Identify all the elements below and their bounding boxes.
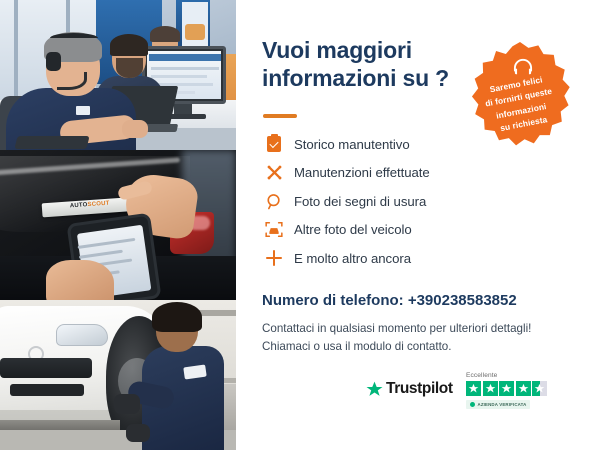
star-2: [483, 381, 498, 396]
trustpilot-rating-label: Eccellente: [466, 372, 497, 379]
magnifier-icon: [262, 191, 286, 211]
photo-column: AUTOSCOUT: [0, 0, 236, 450]
trustpilot-logo: Trustpilot: [366, 380, 453, 398]
star-1: [466, 381, 481, 396]
contact-instructions: Contattaci in qualsiasi momento per ulte…: [262, 320, 572, 356]
feature-item-storico-manutentivo: Storico manutentivo: [262, 130, 512, 159]
feature-label: E molto altro ancora: [294, 251, 411, 266]
contact-line-1: Contattaci in qualsiasi momento per ulte…: [262, 320, 572, 338]
verified-company-badge: AZIENDA VERIFICATA: [466, 400, 530, 409]
phone-number[interactable]: Numero di telefono: +390238583852: [262, 292, 582, 309]
feature-list: Storico manutentivo Manutenzi: [262, 130, 512, 273]
trustpilot-stars: [466, 381, 547, 396]
feature-label: Storico manutentivo: [294, 137, 410, 152]
trustpilot-star-icon: [366, 381, 383, 398]
headset-icon: [512, 58, 534, 76]
clipboard-check-icon: [262, 134, 286, 154]
crossed-wrenches-icon: [262, 163, 286, 183]
trustpilot-name: Trustpilot: [386, 380, 453, 398]
star-3: [499, 381, 514, 396]
verified-check-icon: [470, 402, 475, 407]
trustpilot-widget[interactable]: Trustpilot Eccellente AZIENDA VERIFICATA: [366, 372, 578, 416]
feature-label: Manutenzioni effettuate: [294, 165, 430, 180]
feature-item-altre-foto-veicolo: Altre foto del veicolo: [262, 216, 512, 245]
car-damage-inspection-photo: AUTOSCOUT: [0, 150, 236, 300]
feature-label: Foto dei segni di usura: [294, 194, 426, 209]
verified-label: AZIENDA VERIFICATA: [478, 402, 527, 407]
feature-item-molto-altro: E molto altro ancora: [262, 244, 512, 273]
feature-item-manutenzioni-effettuate: Manutenzioni effettuate: [262, 159, 512, 188]
car-focus-frame-icon: [262, 220, 286, 240]
call-center-agents-photo: [0, 0, 236, 150]
star-5-half: [532, 381, 547, 396]
title-divider: [263, 114, 297, 118]
mechanic-wheel-inspection-photo: [0, 300, 236, 450]
contact-line-2: Chiamaci o usa il modulo di contatto.: [262, 338, 572, 356]
promo-banner: AUTOSCOUT Vuoi maggiori informazioni su …: [0, 0, 600, 450]
content-panel: Vuoi maggiori informazioni su ? Saremo f…: [236, 0, 600, 450]
plus-icon: [262, 248, 286, 268]
star-4: [516, 381, 531, 396]
feature-item-foto-segni-usura: Foto dei segni di usura: [262, 187, 512, 216]
page-title: Vuoi maggiori informazioni su ?: [262, 36, 472, 92]
feature-label: Altre foto del veicolo: [294, 222, 412, 237]
